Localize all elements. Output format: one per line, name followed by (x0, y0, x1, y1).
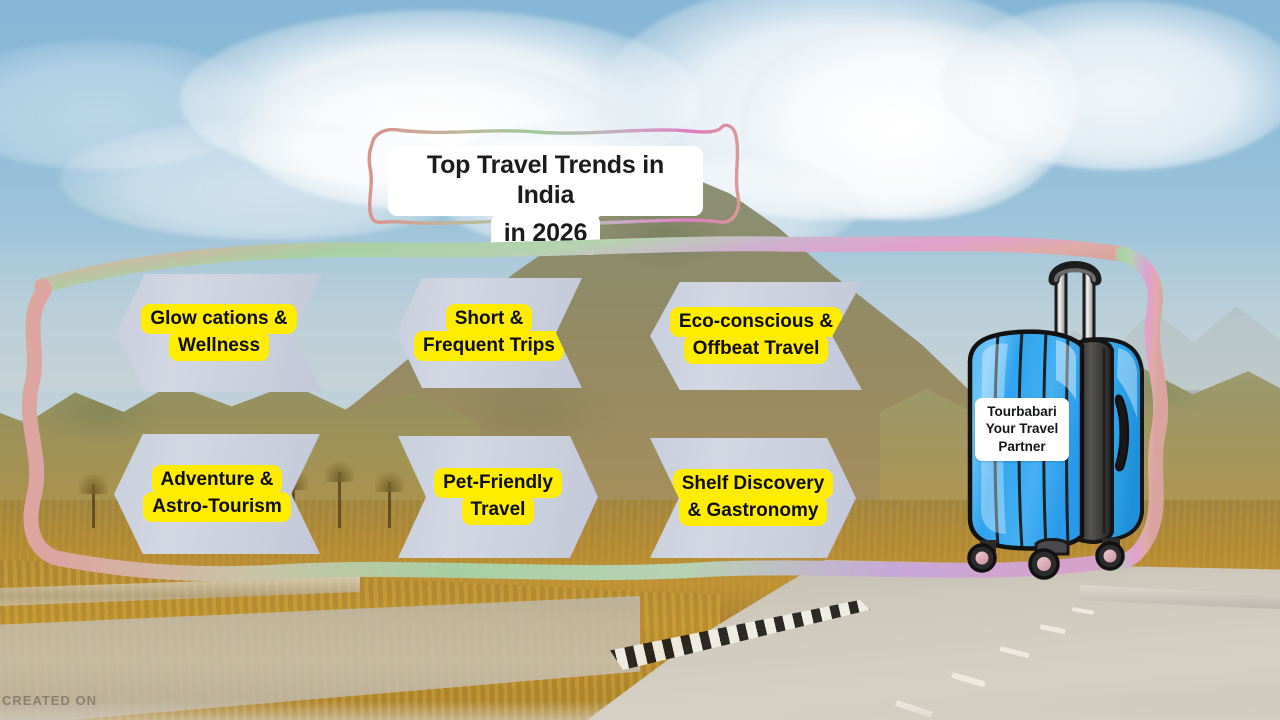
trend-label-line-2: Wellness (169, 331, 269, 361)
trend-label-line-2: Astro-Tourism (143, 492, 290, 522)
trend-label-line-1: Eco-conscious & (670, 307, 842, 337)
trend-label-line-2: Frequent Trips (414, 331, 564, 361)
suitcase-wheels (969, 538, 1123, 578)
trend-card-label: Shelf Discovery & Gastronomy (673, 471, 834, 525)
trend-card[interactable]: Shelf Discovery & Gastronomy (650, 438, 856, 558)
trend-card-label: Pet-Friendly Travel (434, 470, 562, 524)
brand-tagline-line-1: Your Travel (979, 420, 1065, 437)
trend-label-line-1: Glow cations & (141, 304, 296, 334)
trend-card-label: Adventure & Astro-Tourism (143, 467, 290, 521)
travel-trends-poster: CREATED ON Top Travel Trends in India in… (0, 0, 1280, 720)
trend-card-label: Short & Frequent Trips (414, 306, 564, 360)
brand-name: Tourbabari (979, 403, 1065, 420)
trend-card[interactable]: Eco-conscious & Offbeat Travel (650, 282, 862, 390)
trend-label-line-2: Offbeat Travel (684, 334, 829, 364)
trend-label-line-1: Short & (446, 304, 533, 334)
trend-card-label: Glow cations & Wellness (141, 306, 296, 360)
trend-label-line-2: & Gastronomy (679, 496, 828, 526)
trend-card[interactable]: Pet-Friendly Travel (398, 436, 598, 558)
trend-card[interactable]: Adventure & Astro-Tourism (114, 434, 320, 554)
brand-tagline-line-2: Partner (979, 438, 1065, 455)
trend-card[interactable]: Short & Frequent Trips (396, 278, 582, 388)
trend-label-line-1: Pet-Friendly (434, 468, 562, 498)
trend-label-line-1: Adventure & (152, 465, 283, 495)
trend-label-line-1: Shelf Discovery (673, 469, 834, 499)
brand-label: Tourbabari Your Travel Partner (975, 398, 1069, 461)
trend-label-line-2: Travel (462, 495, 535, 525)
trend-card[interactable]: Glow cations & Wellness (116, 274, 322, 392)
trend-card-label: Eco-conscious & Offbeat Travel (670, 309, 842, 363)
